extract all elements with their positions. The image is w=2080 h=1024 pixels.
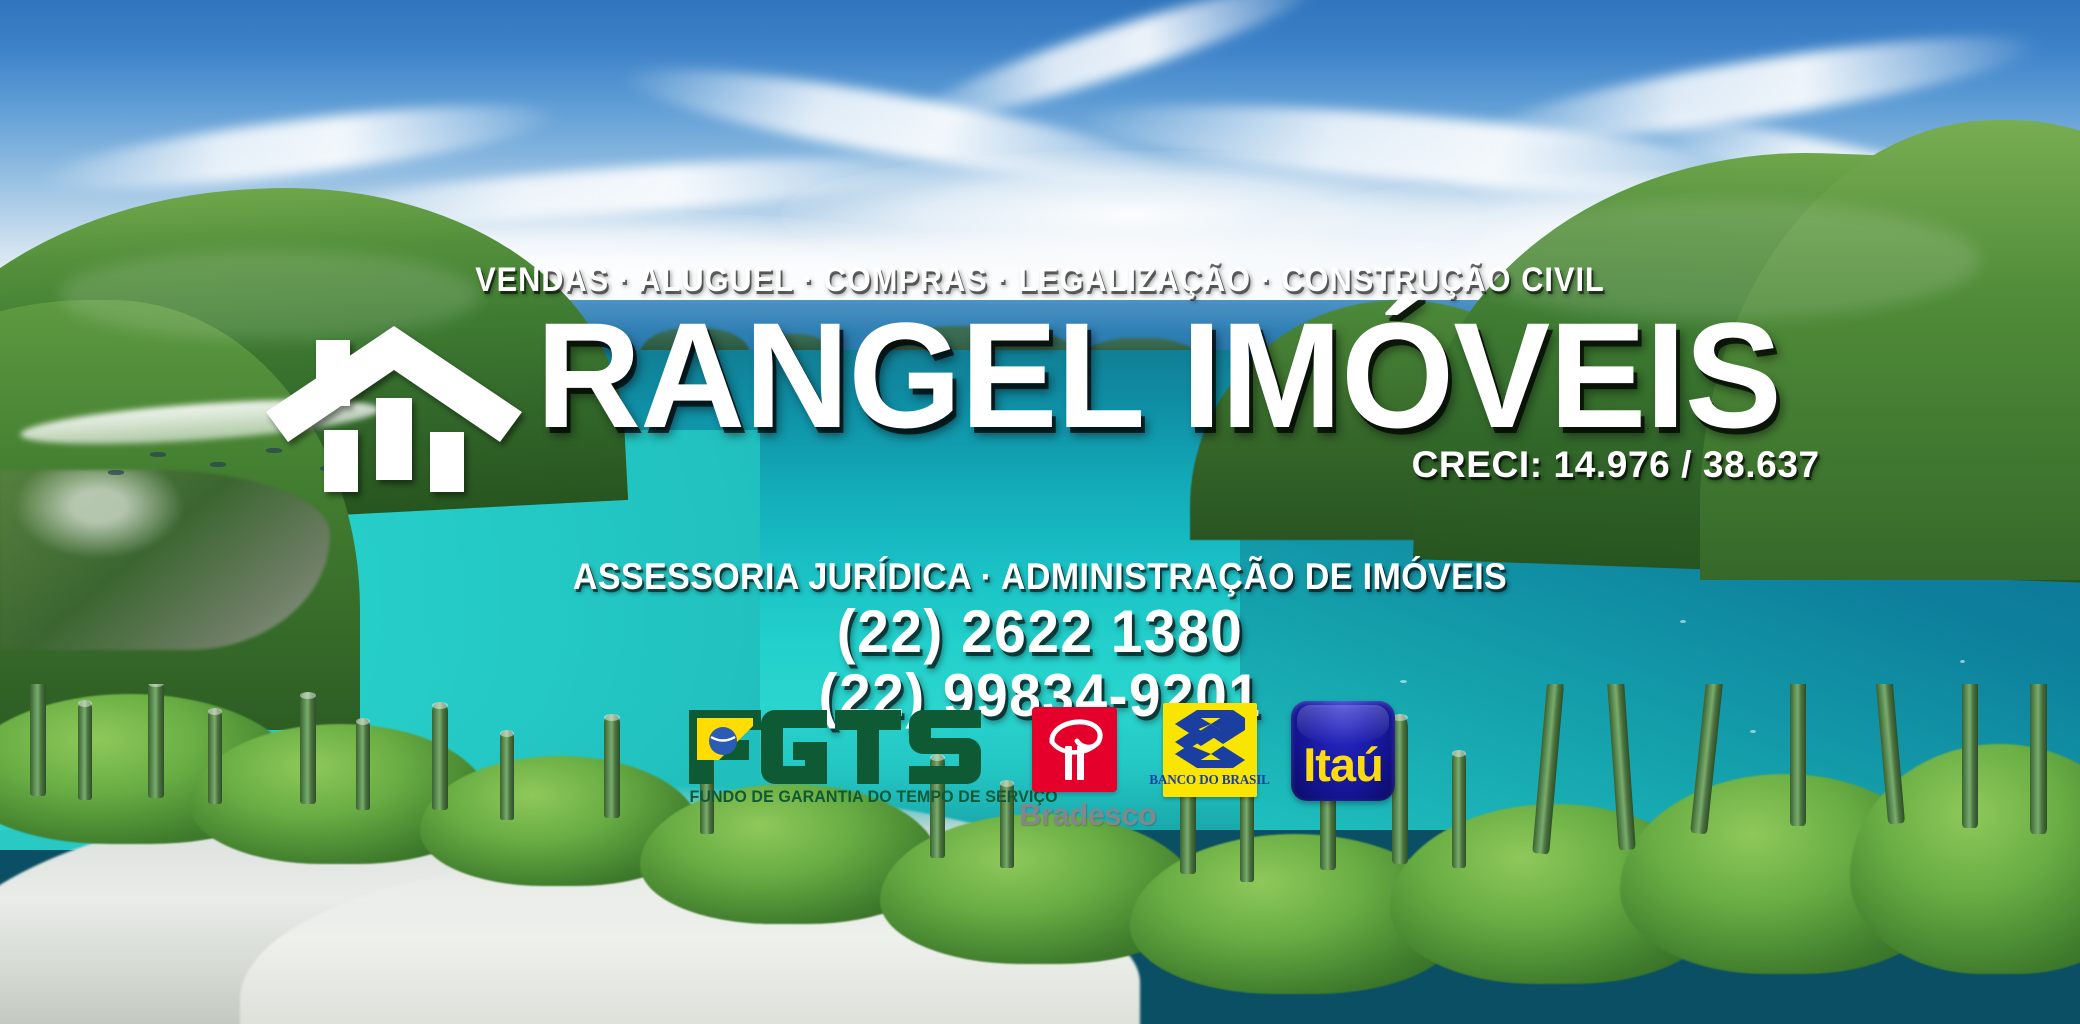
services-line: ASSESSORIA JURÍDICA · ADMINISTRAÇÃO DE I…	[83, 556, 1997, 598]
banner-root: VENDAS · ALUGUEL · COMPRAS · LEGALIZAÇÃO…	[0, 0, 2080, 1024]
brand-row: RANGEL IMÓVEIS CRECI: 14.976 / 38.637	[0, 300, 2080, 498]
banco-do-brasil-logo[interactable]: BANCO DO BRASIL	[1163, 703, 1257, 797]
banco-do-brasil-wordmark: BANCO DO BRASIL	[1150, 772, 1271, 788]
bradesco-logo[interactable]: Bradesco	[1019, 707, 1129, 833]
itau-wordmark: Itaú	[1303, 741, 1383, 801]
phone-landline[interactable]: (22) 2622 1380	[52, 600, 2028, 664]
itau-logo[interactable]: Itaú	[1291, 701, 1395, 801]
bradesco-logo-icon	[1032, 707, 1117, 792]
banco-do-brasil-logo-icon	[1171, 708, 1249, 770]
bank-logo-row: FUNDO DE GARANTIA DO TEMPO DE SERVIÇO Br…	[0, 706, 2080, 833]
fgts-logo[interactable]: FUNDO DE GARANTIA DO TEMPO DE SERVIÇO	[685, 706, 985, 807]
bradesco-wordmark: Bradesco	[1019, 797, 1129, 833]
house-icon	[260, 318, 528, 498]
page-title: RANGEL IMÓVEIS	[536, 300, 1781, 450]
brand-text-block: RANGEL IMÓVEIS CRECI: 14.976 / 38.637	[536, 300, 1819, 486]
fgts-subtitle: FUNDO DE GARANTIA DO TEMPO DE SERVIÇO	[690, 788, 981, 807]
fgts-logo-icon	[685, 706, 985, 786]
